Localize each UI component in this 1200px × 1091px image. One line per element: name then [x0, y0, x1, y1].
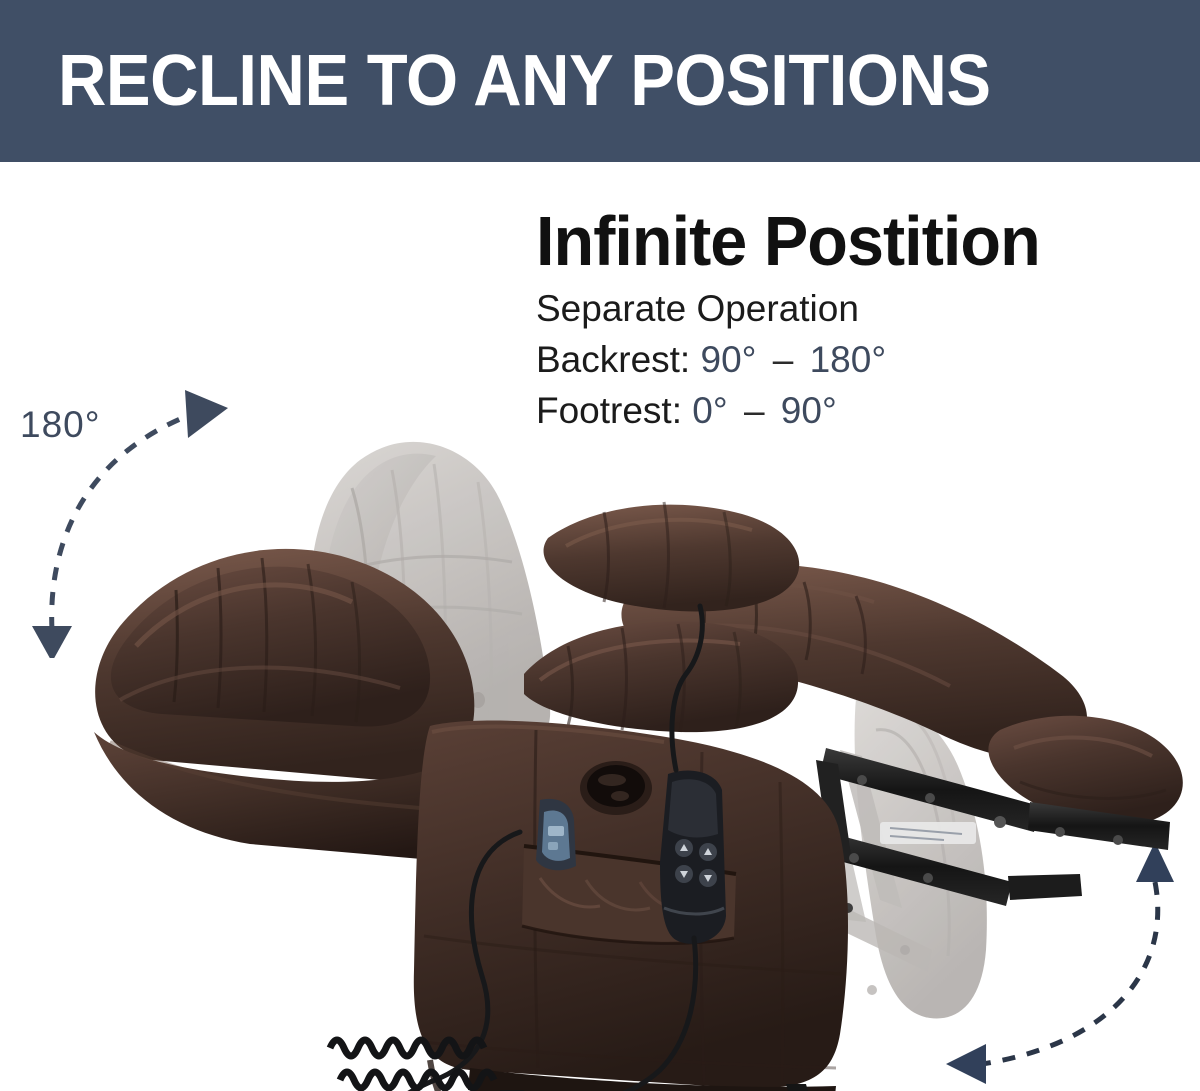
remote-control[interactable] — [660, 771, 726, 944]
spec-text-block: Infinite Postition Separate Operation Ba… — [536, 206, 1186, 443]
recliner-illustration — [0, 430, 1200, 1091]
header-banner: RECLINE TO ANY POSITIONS — [0, 0, 1200, 162]
spec-max-backrest: 180° — [810, 339, 887, 380]
spec-row-backrest: Backrest: 90° – 180° — [536, 341, 1186, 378]
pocket-device — [536, 799, 576, 870]
spec-dash-footrest: – — [738, 390, 771, 431]
spec-min-footrest: 0° — [692, 390, 727, 431]
product-infographic: RECLINE TO ANY POSITIONS Infinite Postit… — [0, 0, 1200, 1091]
seat-cushion — [544, 502, 800, 611]
banner-title: RECLINE TO ANY POSITIONS — [58, 45, 991, 117]
spec-dash-backrest: – — [767, 339, 800, 380]
cup-holder-knob[interactable] — [580, 761, 652, 815]
spec-row-footrest: Footrest: 0° – 90° — [536, 392, 1186, 429]
spec-min-backrest: 90° — [701, 339, 757, 380]
side-body-panel — [414, 721, 848, 1089]
spec-label-backrest: Backrest: — [536, 339, 690, 380]
spec-label-footrest: Footrest: — [536, 390, 682, 431]
headrest-pillow — [524, 621, 798, 732]
spec-max-footrest: 90° — [781, 390, 837, 431]
page-title: Infinite Postition — [536, 206, 1154, 276]
subtitle: Separate Operation — [536, 290, 1186, 327]
